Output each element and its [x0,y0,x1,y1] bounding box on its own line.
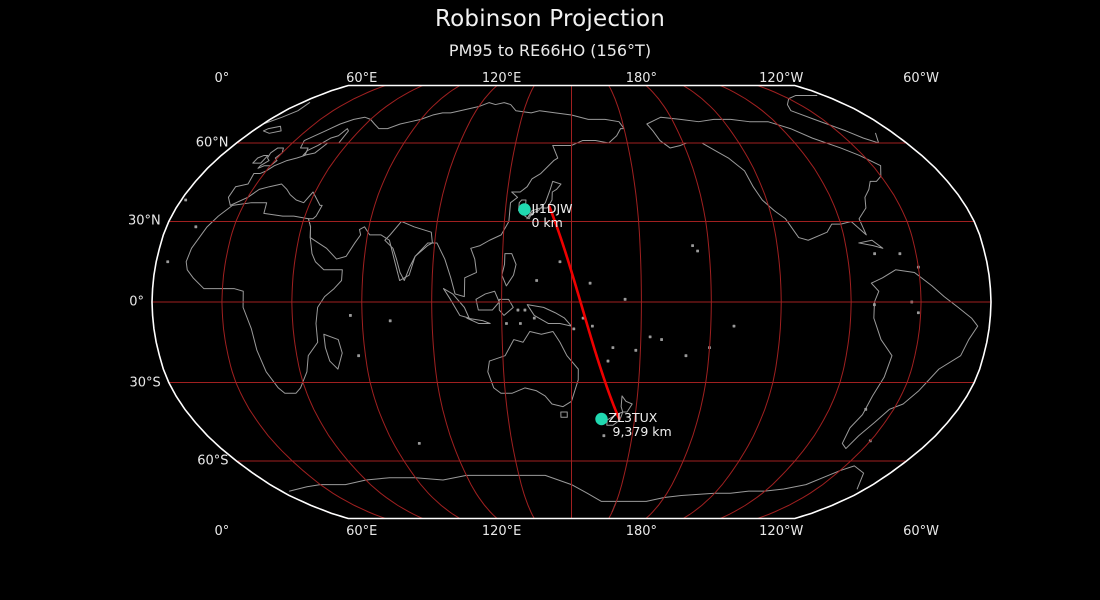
island-speck-31 [195,226,197,228]
island-speck-10 [685,355,687,357]
island-speck-21 [533,317,535,319]
island-speck-4 [733,325,735,327]
island-speck-26 [389,320,391,322]
island-speck-18 [517,309,519,311]
coastlines-layer [167,95,978,511]
world-map [0,0,1100,600]
longitude-tick-label: 60°W [903,71,939,86]
island-speck-27 [350,315,352,317]
latitude-tick-label: 0° [96,295,144,310]
station-distance: 0 km [532,216,573,230]
station-label-ji1djw: JI1DJW0 km [532,202,573,230]
longitude-tick-label: 180° [626,71,657,86]
coastline-philippines [502,254,516,286]
longitude-tick-label: 120°W [759,71,803,86]
longitude-tick-label: 60°E [346,71,377,86]
island-speck-16 [697,250,699,252]
great-circle-path [549,206,619,418]
island-speck-20 [520,323,522,325]
station-distance: 9,379 km [613,425,672,439]
coastline-sumatra [444,289,470,319]
latitude-tick-label: 60°N [180,135,228,150]
coastline-australia [488,332,578,407]
station-markers-layer [518,203,607,425]
latitude-tick-label: 60°S [180,454,228,469]
coastline-java [467,318,490,323]
map-figure: Robinson Projection PM95 to RE66HO (156°… [0,0,1100,600]
island-speck-24 [865,408,867,410]
island-speck-19 [506,323,508,325]
island-speck-15 [692,245,694,247]
coastline-ireland [253,155,268,163]
island-speck-2 [661,339,663,341]
island-speck-32 [167,261,169,263]
island-speck-30 [185,199,187,201]
coastline-borneo [476,291,499,310]
coastline-cuba [859,240,883,248]
island-speck-17 [524,309,526,311]
island-speck-13 [589,282,591,284]
island-speck-35 [874,253,876,255]
island-speck-28 [358,355,360,357]
longitude-tick-label: 120°E [482,71,522,86]
coastline-samerica [842,270,977,449]
island-speck-9 [649,336,651,338]
longitude-tick-label: 120°W [759,524,803,539]
station-marker-zl3tux[interactable] [595,413,607,425]
island-speck-11 [559,261,561,263]
station-callsign: ZL3TUX [609,410,658,425]
longitude-tick-label: 60°E [346,524,377,539]
station-callsign: JI1DJW [532,201,573,216]
island-speck-7 [573,328,575,330]
coastline-madagascar [324,334,342,369]
longitude-tick-label: 180° [626,524,657,539]
island-speck-0 [607,360,609,362]
latitude-tick-label: 30°S [113,375,161,390]
station-label-zl3tux: ZL3TUX9,379 km [609,411,672,439]
island-speck-22 [873,304,875,306]
island-speck-14 [624,298,626,300]
path-line [549,206,619,418]
coastline-africa [186,203,342,394]
coastline-newguinea [527,305,571,326]
island-speck-12 [536,280,538,282]
island-speck-34 [899,253,901,255]
longitude-tick-label: 0° [215,524,230,539]
island-speck-5 [591,325,593,327]
graticule-layer [152,86,991,519]
island-speck-29 [418,443,420,445]
island-speck-37 [603,435,605,437]
longitude-tick-label: 0° [215,71,230,86]
longitude-tick-label: 120°E [482,524,522,539]
coastline-iceland [263,126,281,133]
station-marker-ji1djw[interactable] [518,203,530,215]
island-speck-1 [635,349,637,351]
island-speck-8 [612,347,614,349]
latitude-tick-label: 30°N [113,214,161,229]
island-speck-36 [917,312,919,314]
longitude-tick-label: 60°W [903,524,939,539]
coastline-tasmania [561,412,567,417]
